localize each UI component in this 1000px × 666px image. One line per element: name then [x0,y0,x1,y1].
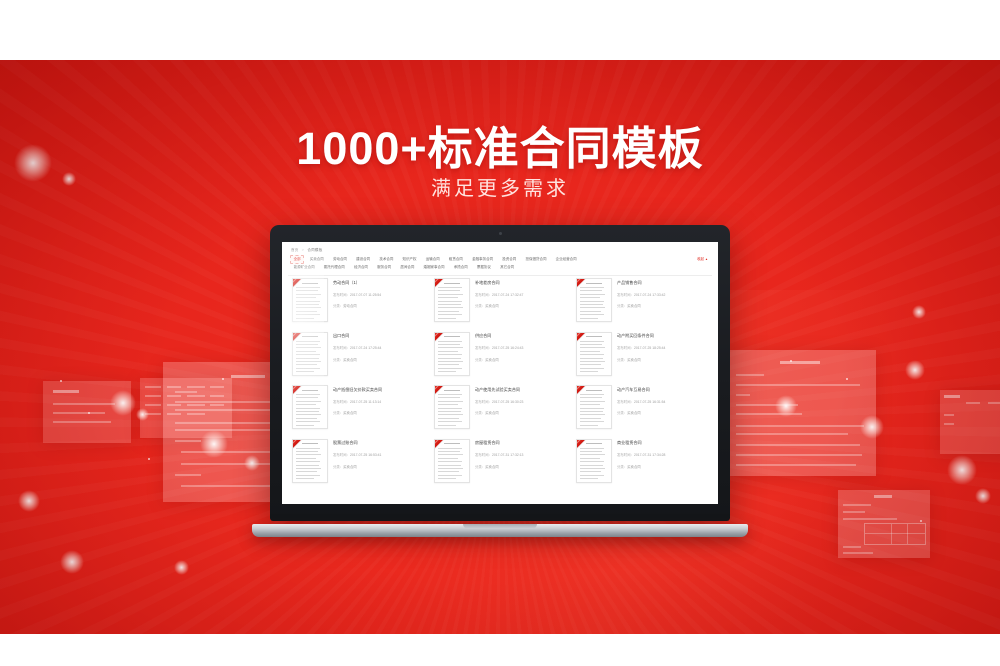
category-tab-1[interactable]: 委托代理合同 [320,264,348,273]
card-date-value: 2017-07-24 17:25:44 [350,346,381,350]
card-category-value[interactable]: 买卖合同 [343,411,357,415]
chevron-up-icon: ▲ [705,257,708,261]
category-tab-5[interactable]: 知识产权 [399,255,420,264]
card-meta: 动产抵偿旧欠价款买卖合同发布时间：2017-07-25 11:13:14分类：买… [333,385,382,415]
card-date-value: 2017-07-31 17:32:13 [492,453,523,457]
category-tab-11[interactable]: 企业经营合同 [552,255,580,264]
category-tab-2[interactable]: 经济合同 [350,264,371,273]
card-publish-date: 发布时间：2017-07-25 16:53:41 [333,452,381,457]
card-meta: 补地差房合同发布时间：2017-07-24 17:32:47分类：买卖合同 [475,278,523,308]
card-publish-date: 发布时间：2017-07-25 16:31:54 [617,399,665,404]
card-date-value: 2017-07-25 16:24:43 [492,346,523,350]
card-date-value: 2017-07-25 11:13:14 [350,400,381,404]
card-title[interactable]: 动产汽车互易合同 [617,388,665,393]
card-category-value[interactable]: 买卖合同 [627,411,641,415]
template-card[interactable]: 补地差房合同发布时间：2017-07-24 17:32:47分类：买卖合同 [434,278,568,322]
card-category-value[interactable]: 买卖合同 [485,358,499,362]
card-publish-date: 发布时间：2017-07-25 16:30:23 [475,399,523,404]
card-title[interactable]: 劳动合同（1） [333,281,381,286]
document-thumbnail[interactable] [292,332,328,376]
document-thumbnail[interactable] [292,439,328,483]
collapse-toggle[interactable]: 收起▲ [697,257,708,262]
template-card[interactable]: 商业租赁合同发布时间：2017-07-31 17:34:28分类：买卖合同 [576,439,710,483]
document-thumbnail[interactable] [434,332,470,376]
card-category: 分类：买卖合同 [475,357,523,362]
document-thumbnail[interactable] [576,439,612,483]
webcam-icon [499,232,502,235]
sparkle [148,458,150,460]
card-category-value[interactable]: 买卖合同 [627,465,641,469]
category-tab-7[interactable]: 租赁合同 [445,255,466,264]
card-date-value: 2017-07-25 16:53:41 [350,453,381,457]
card-date-value: 2017-07-31 17:34:28 [634,453,665,457]
card-meta: 动产附买回条件合同发布时间：2017-07-25 18:25:44分类：买卖合同 [617,332,665,362]
card-title[interactable]: 供应合同 [475,334,523,339]
card-title[interactable]: 动产使用先试验买卖合同 [475,388,523,393]
card-title[interactable]: 动产抵偿旧欠价款买卖合同 [333,388,382,393]
card-category-value[interactable]: 买卖合同 [343,358,357,362]
card-category: 分类：买卖合同 [475,303,523,308]
card-category-value[interactable]: 买卖合同 [627,304,641,308]
category-tab-4[interactable]: 居间合同 [397,264,418,273]
document-thumbnail[interactable] [576,332,612,376]
card-date-value: 2017-07-25 18:25:44 [634,346,665,350]
category-tab-1[interactable]: 买卖合同 [306,255,327,264]
collapse-label: 收起 [697,257,704,261]
card-meta: 房屋租赁合同发布时间：2017-07-31 17:32:13分类：买卖合同 [475,439,523,469]
category-tab-0[interactable]: 全部 [290,255,304,264]
document-thumbnail[interactable] [434,385,470,429]
card-category: 分类：买卖合同 [333,410,382,415]
card-date-value: 2017-07-24 17:33:42 [634,293,665,297]
card-title[interactable]: 动产附买回条件合同 [617,334,665,339]
bokeh-light [18,490,40,512]
document-thumbnail[interactable] [576,278,612,322]
card-date-value: 2017-07-07 11:25:54 [350,293,381,297]
card-date-value: 2017-07-25 16:31:54 [634,400,665,404]
bokeh-light [60,550,84,574]
card-publish-date: 发布时间：2017-07-31 17:34:28 [617,452,665,457]
category-tab-6[interactable]: 运输合同 [422,255,443,264]
page-title: 1000+标准合同模板 [0,112,1000,177]
card-title[interactable]: 产品销售合同 [617,281,665,286]
card-category: 分类：劳动合同 [333,303,381,308]
bokeh-light [975,488,991,504]
card-category: 分类：买卖合同 [475,410,523,415]
bokeh-light [174,560,189,575]
card-meta: 供应合同发布时间：2017-07-25 16:24:43分类：买卖合同 [475,332,523,362]
laptop-base [252,524,748,537]
card-category: 分类：买卖合同 [617,410,665,415]
card-category: 分类：买卖合同 [617,357,665,362]
category-tab-7[interactable]: 票据协议 [473,264,494,273]
card-title[interactable]: 出口合同 [333,334,381,339]
category-tab-8[interactable]: 其它合同 [497,264,518,273]
card-category: 分类：买卖合同 [617,464,665,469]
category-tab-8[interactable]: 金融事务合同 [469,255,497,264]
card-publish-date: 发布时间：2017-07-31 17:32:13 [475,452,523,457]
breadcrumb-separator: > [302,248,304,252]
card-publish-date: 发布时间：2017-07-25 16:24:43 [475,345,523,350]
template-card[interactable]: 产品销售合同发布时间：2017-07-24 17:33:42分类：买卖合同 [576,278,710,322]
poster-canvas: 1000+标准合同模板 满足更多需求 首页 > 合同模板 全部买卖合同劳动合同建… [0,0,1000,666]
document-thumbnail[interactable] [292,278,328,322]
category-tab-9[interactable]: 投资合同 [499,255,520,264]
card-category: 分类：买卖合同 [333,464,381,469]
card-title[interactable]: 股票过账合同 [333,441,381,446]
card-category-value[interactable]: 劳动合同 [343,304,357,308]
category-tab-4[interactable]: 技术合同 [376,255,397,264]
category-tabs-row-2: 能源矿业合同委托代理合同经济合同服务合同居间合同婚姻家事合同承揽合同票据协议其它… [288,264,712,273]
card-category: 分类：买卖合同 [475,464,523,469]
laptop-mockup: 首页 > 合同模板 全部买卖合同劳动合同建设合同技术合同知识产权运输合同租赁合同… [252,225,748,537]
breadcrumb: 首页 > 合同模板 [291,248,323,253]
document-thumbnail[interactable] [292,385,328,429]
breadcrumb-home[interactable]: 首页 [291,248,299,252]
template-card[interactable]: 房屋租赁合同发布时间：2017-07-31 17:32:13分类：买卖合同 [434,439,568,483]
background-doc-panel-far-right [940,390,1000,454]
category-tab-3[interactable]: 建设合同 [353,255,374,264]
category-tab-0[interactable]: 能源矿业合同 [290,264,318,273]
card-meta: 动产使用先试验买卖合同发布时间：2017-07-25 16:30:23分类：买卖… [475,385,523,415]
category-tab-5[interactable]: 婚姻家事合同 [420,264,448,273]
bokeh-light [947,455,977,485]
card-meta: 股票过账合同发布时间：2017-07-25 16:53:41分类：买卖合同 [333,439,381,469]
card-title[interactable]: 房屋租赁合同 [475,441,523,446]
background-doc-page-right [728,350,876,476]
category-tab-3[interactable]: 服务合同 [374,264,395,273]
card-meta: 劳动合同（1）发布时间：2017-07-07 11:25:54分类：劳动合同 [333,278,381,308]
card-publish-date: 发布时间：2017-07-24 17:25:44 [333,345,381,350]
card-category-value[interactable]: 买卖合同 [485,304,499,308]
template-card[interactable]: 动产使用先试验买卖合同发布时间：2017-07-25 16:30:23分类：买卖… [434,385,568,429]
document-thumbnail[interactable] [576,385,612,429]
page-subtitle: 满足更多需求 [0,172,1000,201]
card-meta: 商业租赁合同发布时间：2017-07-31 17:34:28分类：买卖合同 [617,439,665,469]
card-publish-date: 发布时间：2017-07-24 17:33:42 [617,292,665,297]
card-category: 分类：买卖合同 [617,303,665,308]
card-category-value[interactable]: 买卖合同 [627,358,641,362]
template-card[interactable]: 供应合同发布时间：2017-07-25 16:24:43分类：买卖合同 [434,332,568,376]
laptop-screen: 首页 > 合同模板 全部买卖合同劳动合同建设合同技术合同知识产权运输合同租赁合同… [282,242,718,504]
laptop-lid: 首页 > 合同模板 全部买卖合同劳动合同建设合同技术合同知识产权运输合同租赁合同… [270,225,730,521]
card-publish-date: 发布时间：2017-07-24 17:32:47 [475,292,523,297]
card-publish-date: 发布时间：2017-07-25 18:25:44 [617,345,665,350]
card-category-value[interactable]: 买卖合同 [485,411,499,415]
document-thumbnail[interactable] [434,439,470,483]
card-meta: 产品销售合同发布时间：2017-07-24 17:33:42分类：买卖合同 [617,278,665,308]
category-tab-6[interactable]: 承揽合同 [450,264,471,273]
card-category-value[interactable]: 买卖合同 [485,465,499,469]
card-title[interactable]: 商业租赁合同 [617,441,665,446]
card-publish-date: 发布时间：2017-07-25 11:13:14 [333,399,382,404]
template-card-grid: 劳动合同（1）发布时间：2017-07-07 11:25:54分类：劳动合同补地… [292,278,710,483]
card-category-value[interactable]: 买卖合同 [343,465,357,469]
card-title[interactable]: 补地差房合同 [475,281,523,286]
laptop-notch [463,524,537,529]
card-date-value: 2017-07-24 17:32:47 [492,293,523,297]
card-publish-date: 发布时间：2017-07-07 11:25:54 [333,292,381,297]
bokeh-light [905,360,925,380]
background-doc-form-right [838,490,930,558]
category-tabs-row-1: 全部买卖合同劳动合同建设合同技术合同知识产权运输合同租赁合同金融事务合同投资合同… [288,255,712,264]
bokeh-light [912,305,926,319]
template-card[interactable]: 动产附买回条件合同发布时间：2017-07-25 18:25:44分类：买卖合同 [576,332,710,376]
category-tab-2[interactable]: 劳动合同 [329,255,350,264]
card-date-value: 2017-07-25 16:30:23 [492,400,523,404]
card-meta: 动产汽车互易合同发布时间：2017-07-25 16:31:54分类：买卖合同 [617,385,665,415]
template-card[interactable]: 劳动合同（1）发布时间：2017-07-07 11:25:54分类：劳动合同 [292,278,426,322]
category-tab-10[interactable]: 担保借贷合同 [522,255,550,264]
template-card[interactable]: 动产抵偿旧欠价款买卖合同发布时间：2017-07-25 11:13:14分类：买… [292,385,426,429]
breadcrumb-current: 合同模板 [307,248,322,252]
card-meta: 出口合同发布时间：2017-07-24 17:25:44分类：买卖合同 [333,332,381,362]
document-thumbnail[interactable] [434,278,470,322]
contract-template-app: 首页 > 合同模板 全部买卖合同劳动合同建设合同技术合同知识产权运输合同租赁合同… [282,242,718,504]
background-doc-small-left [43,381,131,443]
template-card[interactable]: 动产汽车互易合同发布时间：2017-07-25 16:31:54分类：买卖合同 [576,385,710,429]
card-category: 分类：买卖合同 [333,357,381,362]
category-filter-bar: 全部买卖合同劳动合同建设合同技术合同知识产权运输合同租赁合同金融事务合同投资合同… [288,255,712,276]
template-card[interactable]: 股票过账合同发布时间：2017-07-25 16:53:41分类：买卖合同 [292,439,426,483]
template-card[interactable]: 出口合同发布时间：2017-07-24 17:25:44分类：买卖合同 [292,332,426,376]
